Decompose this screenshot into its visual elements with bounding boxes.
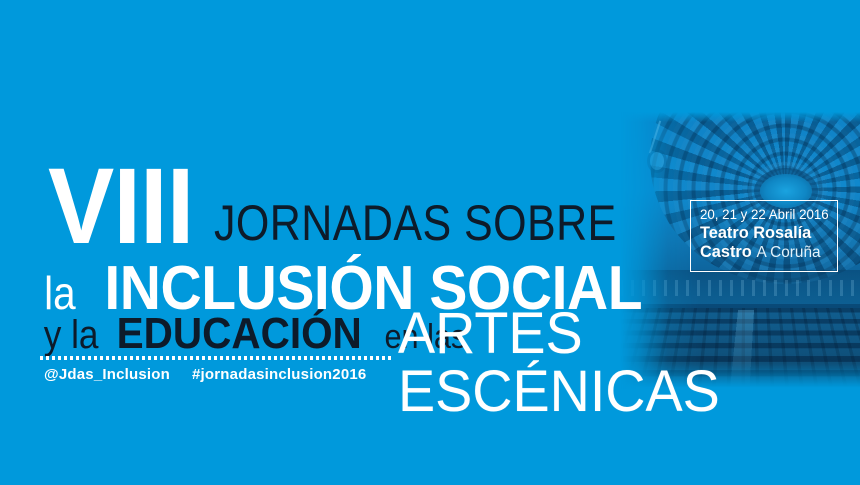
headline-conjunction-y-la: y la xyxy=(44,315,99,355)
event-dates: 20, 21 y 22 Abril 2016 xyxy=(700,207,823,222)
headline-row-1: VIII JORNADAS SOBRE xyxy=(48,163,682,249)
venue-name-line-2-row: Castro A Coruña xyxy=(700,242,824,262)
dotted-divider xyxy=(40,356,392,360)
headline-jornadas-sobre: JORNADAS SOBRE xyxy=(214,202,617,245)
event-hashtag[interactable]: #jornadasinclusion2016 xyxy=(192,366,366,383)
headline-artes-escenicas: ARTES ESCÉNICAS xyxy=(398,305,842,421)
edition-number: VIII xyxy=(48,163,193,249)
headline-educacion: EDUCACIÓN xyxy=(117,312,362,356)
headline-article-la: la xyxy=(44,270,76,316)
venue-city: A Coruña xyxy=(757,244,821,262)
social-handles: @Jdas_Inclusion #jornadasinclusion2016 xyxy=(44,366,366,383)
venue-name-line-2: Castro xyxy=(700,242,752,261)
twitter-handle[interactable]: @Jdas_Inclusion xyxy=(44,366,170,383)
venue-info-box: 20, 21 y 22 Abril 2016 Teatro Rosalía Ca… xyxy=(690,200,838,272)
event-poster: VIII JORNADAS SOBRE la INCLUSIÓN SOCIAL … xyxy=(0,0,860,485)
venue-name-line-1: Teatro Rosalía xyxy=(700,223,824,242)
